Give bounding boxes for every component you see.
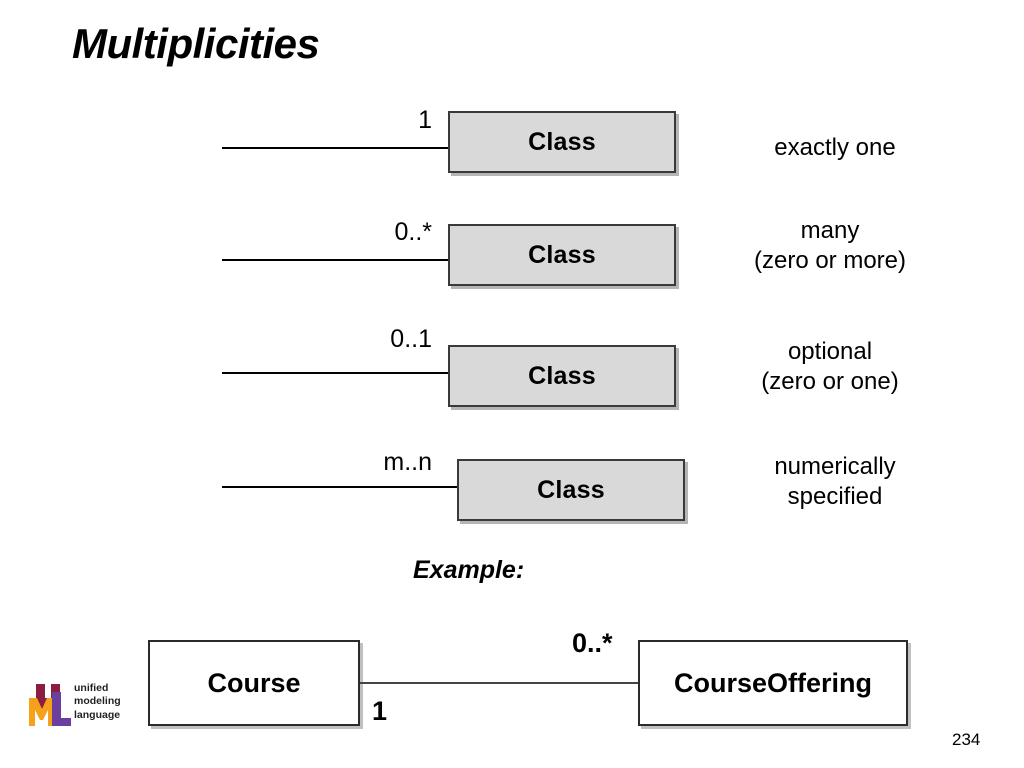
course-class-box[interactable]: Course xyxy=(148,640,360,726)
page-title: Multiplicities xyxy=(72,20,319,68)
class-name: Class xyxy=(528,128,596,157)
multiplicity-description: many (zero or more) xyxy=(680,216,980,277)
multiplicity-description: numerically specified xyxy=(690,452,980,513)
multiplicity-description: optional (zero or one) xyxy=(680,337,980,398)
class-box[interactable]: Class xyxy=(448,345,676,407)
class-name: Class xyxy=(537,476,605,505)
association-line xyxy=(222,486,459,488)
uml-logo-mark xyxy=(26,678,72,728)
page-number: 234 xyxy=(952,730,980,750)
class-name: Class xyxy=(528,362,596,391)
courseoffering-class-box[interactable]: CourseOffering xyxy=(638,640,908,726)
class-name: Course xyxy=(207,668,300,699)
multiplicity-label: 0..* xyxy=(300,218,432,247)
association-line xyxy=(222,372,450,374)
multiplicity-label: 0..1 xyxy=(300,325,432,354)
multiplicity-description: exactly one xyxy=(690,133,980,163)
multiplicity-label-left: 1 xyxy=(372,696,387,727)
association-line xyxy=(222,147,450,149)
uml-logo: unified modeling language xyxy=(26,676,136,734)
multiplicity-label: m..n xyxy=(290,448,432,477)
class-name: Class xyxy=(528,241,596,270)
class-box[interactable]: Class xyxy=(457,459,685,521)
class-box[interactable]: Class xyxy=(448,224,676,286)
class-box[interactable]: Class xyxy=(448,111,676,173)
uml-logo-text: unified modeling language xyxy=(74,682,121,722)
association-line xyxy=(222,259,450,261)
multiplicity-label-right: 0..* xyxy=(572,628,613,659)
multiplicity-label: 1 xyxy=(300,106,432,135)
example-label: Example: xyxy=(413,556,524,585)
association-line xyxy=(360,682,638,684)
class-name: CourseOffering xyxy=(674,668,872,699)
